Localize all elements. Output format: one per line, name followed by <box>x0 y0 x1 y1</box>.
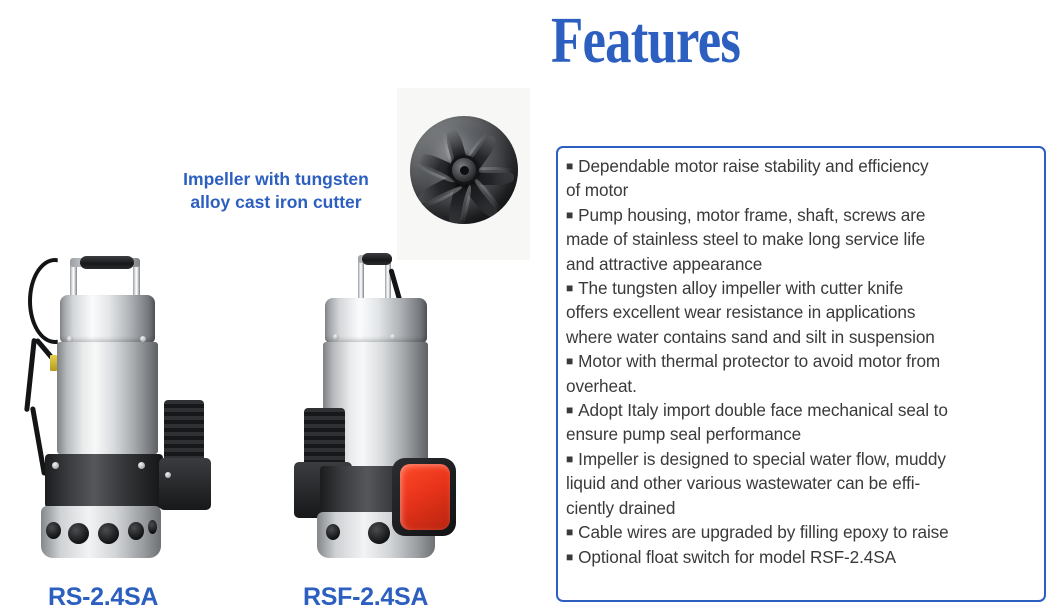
discharge-bolt <box>165 472 171 478</box>
submersible-pump-rsf-2-4sa <box>290 250 520 580</box>
warning-label <box>50 355 57 371</box>
strainer-intake-hole <box>326 524 340 540</box>
housing-bolt <box>52 462 59 469</box>
feature-item-text: of motor <box>566 180 628 200</box>
cap-bolt <box>390 334 396 340</box>
feature-item-text: Pump housing, motor frame, shaft, screws… <box>578 205 925 225</box>
cap-bolt <box>333 334 339 340</box>
discharge-port <box>304 408 345 470</box>
feature-item-line: liquid and other various wastewater can … <box>566 471 1037 495</box>
carry-handle-grip <box>80 256 134 269</box>
submersible-pump-rs-2-4sa <box>20 250 250 580</box>
strainer-intake-hole <box>368 522 390 544</box>
feature-item-text: and attractive appearance <box>566 254 762 274</box>
feature-item-line: ■Motor with thermal protector to avoid m… <box>566 349 1037 373</box>
float-switch-red-face <box>400 464 450 530</box>
strainer-intake-hole <box>128 522 144 540</box>
tungsten-alloy-impeller-photo <box>397 88 530 260</box>
feature-item-text: The tungsten alloy impeller with cutter … <box>578 278 903 298</box>
feature-item-line: ■Cable wires are upgraded by filling epo… <box>566 520 1037 544</box>
feature-item-text: made of stainless steel to make long ser… <box>566 229 925 249</box>
strainer-intake-hole <box>98 523 119 544</box>
stainless-motor-body <box>57 342 158 454</box>
feature-item-text: Cable wires are upgraded by filling epox… <box>578 522 948 542</box>
feature-item-line: ■Adopt Italy import double face mechanic… <box>566 398 1037 422</box>
housing-bolt <box>138 462 145 469</box>
impeller-caption-line-2: alloy cast iron cutter <box>152 191 400 214</box>
feature-item-text: ensure pump seal performance <box>566 424 801 444</box>
feature-item-text: Motor with thermal protector to avoid mo… <box>578 351 940 371</box>
feature-item-text: where water contains sand and silt in su… <box>566 327 935 347</box>
feature-item-line: ■Impeller is designed to special water f… <box>566 447 1037 471</box>
feature-item-line: ciently drained <box>566 496 1037 520</box>
feature-item-line: of motor <box>566 178 1037 202</box>
product-features-page: Features Impeller with tungsten alloy ca… <box>0 0 1060 614</box>
impeller-caption: Impeller with tungsten alloy cast iron c… <box>152 168 400 214</box>
impeller-caption-line-1: Impeller with tungsten <box>152 168 400 191</box>
discharge-collar <box>159 458 211 510</box>
bullet-square-icon: ■ <box>566 281 573 295</box>
feature-item-text: Optional float switch for model RSF-2.4S… <box>578 547 896 567</box>
feature-item-text: ciently drained <box>566 498 675 518</box>
power-cable <box>24 338 37 412</box>
feature-item-line: made of stainless steel to make long ser… <box>566 227 1037 251</box>
feature-item-text: liquid and other various wastewater can … <box>566 473 920 493</box>
pump-housing <box>45 454 163 508</box>
feature-item-line: ■Optional float switch for model RSF-2.4… <box>566 545 1037 569</box>
carry-handle-grip <box>362 253 392 265</box>
model-label-rs: RS-2.4SA <box>48 583 158 612</box>
strainer-intake-hole <box>68 523 89 544</box>
model-label-rsf: RSF-2.4SA <box>303 583 428 612</box>
feature-item-text: offers excellent wear resistance in appl… <box>566 302 915 322</box>
bullet-square-icon: ■ <box>566 403 573 417</box>
bullet-square-icon: ■ <box>566 354 573 368</box>
feature-item-line: offers excellent wear resistance in appl… <box>566 300 1037 324</box>
impeller-hub <box>449 155 479 185</box>
bullet-square-icon: ■ <box>566 208 573 222</box>
bullet-square-icon: ■ <box>566 550 573 564</box>
feature-item-line: ■Dependable motor raise stability and ef… <box>566 154 1037 178</box>
bullet-square-icon: ■ <box>566 159 573 173</box>
feature-item-line: ■Pump housing, motor frame, shaft, screw… <box>566 203 1037 227</box>
motor-top-cap <box>325 298 427 343</box>
impeller-disc <box>410 116 518 224</box>
strainer-intake-hole <box>148 520 157 534</box>
feature-item-line: where water contains sand and silt in su… <box>566 325 1037 349</box>
feature-item-line: and attractive appearance <box>566 252 1037 276</box>
page-title: Features <box>551 6 740 76</box>
bullet-square-icon: ■ <box>566 525 573 539</box>
feature-item-line: ■The tungsten alloy impeller with cutter… <box>566 276 1037 300</box>
feature-item-line: overheat. <box>566 374 1037 398</box>
strainer-intake-hole <box>46 522 61 539</box>
feature-item-text: overheat. <box>566 376 637 396</box>
discharge-port <box>164 400 204 462</box>
feature-item-text: Impeller is designed to special water fl… <box>578 449 946 469</box>
feature-item-line: ensure pump seal performance <box>566 422 1037 446</box>
features-list-box: ■Dependable motor raise stability and ef… <box>556 146 1046 602</box>
feature-item-text: Dependable motor raise stability and eff… <box>578 156 928 176</box>
feature-item-text: Adopt Italy import double face mechanica… <box>578 400 948 420</box>
bullet-square-icon: ■ <box>566 452 573 466</box>
